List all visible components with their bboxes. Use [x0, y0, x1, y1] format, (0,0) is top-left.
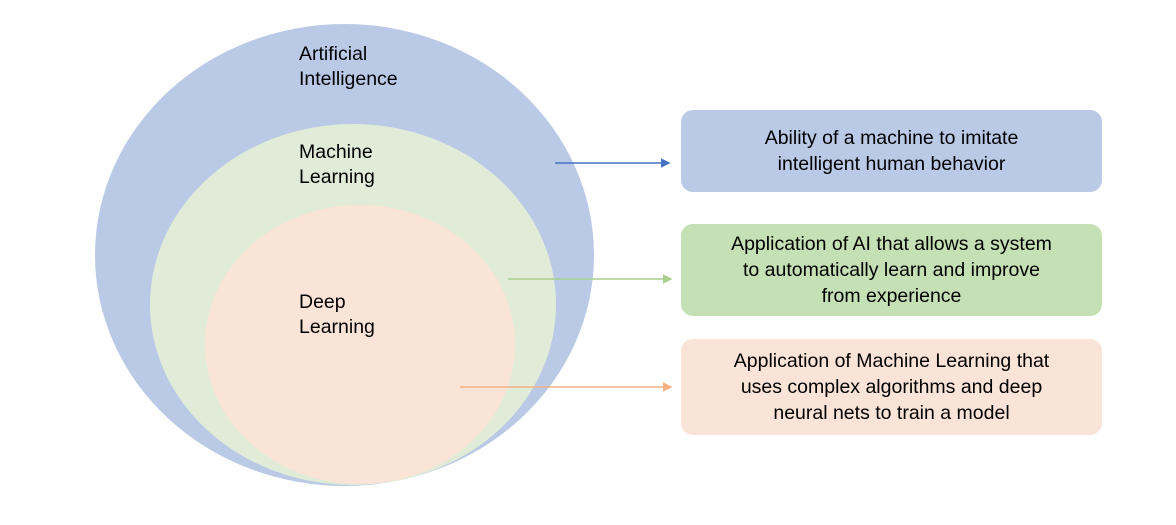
callout-artificial-intelligence-text: Ability of a machine to imitate intellig… [695, 125, 1088, 177]
callout-artificial-intelligence[interactable]: Ability of a machine to imitate intellig… [681, 110, 1102, 192]
circle-deep-learning[interactable] [205, 205, 515, 484]
callout-deep-learning-text: Application of Machine Learning that use… [695, 348, 1088, 426]
diagram-canvas: Artificial Intelligence Machine Learning… [0, 0, 1176, 525]
label-machine-learning: Machine Learning [299, 140, 375, 190]
callout-machine-learning-text: Application of AI that allows a system t… [695, 231, 1088, 309]
callout-deep-learning[interactable]: Application of Machine Learning that use… [681, 339, 1102, 435]
label-deep-learning: Deep Learning [299, 290, 375, 340]
callout-machine-learning[interactable]: Application of AI that allows a system t… [681, 224, 1102, 316]
label-artificial-intelligence: Artificial Intelligence [299, 42, 398, 92]
